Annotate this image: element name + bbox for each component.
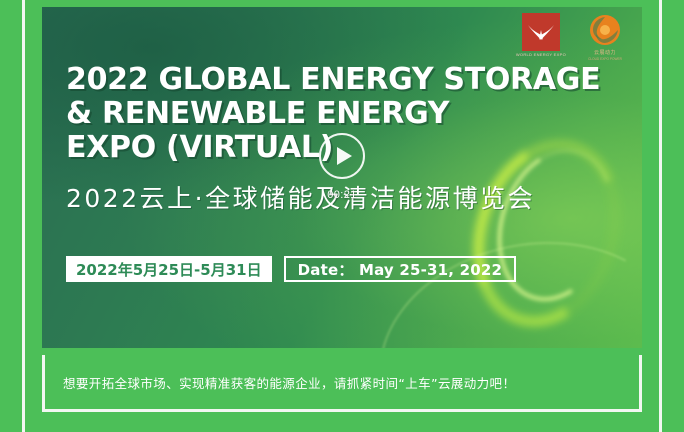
play-overlay[interactable]: 00:21 xyxy=(42,7,642,348)
video-duration-label: 00:21 xyxy=(327,189,357,201)
caption-text: 想要开拓全球市场、实现精准获客的能源企业，请抓紧时间“上车”云展动力吧！ xyxy=(45,373,515,392)
page-background: WORLD ENERGY EXPO 云展动力 CLOUD EXPO POWER … xyxy=(0,0,684,432)
play-triangle-icon xyxy=(337,147,352,165)
video-player[interactable]: WORLD ENERGY EXPO 云展动力 CLOUD EXPO POWER … xyxy=(42,7,642,348)
right-vertical-rule xyxy=(659,0,662,432)
caption-panel: 想要开拓全球市场、实现精准获客的能源企业，请抓紧时间“上车”云展动力吧！ xyxy=(42,355,642,412)
left-vertical-rule xyxy=(22,0,25,432)
play-button[interactable] xyxy=(319,133,365,179)
